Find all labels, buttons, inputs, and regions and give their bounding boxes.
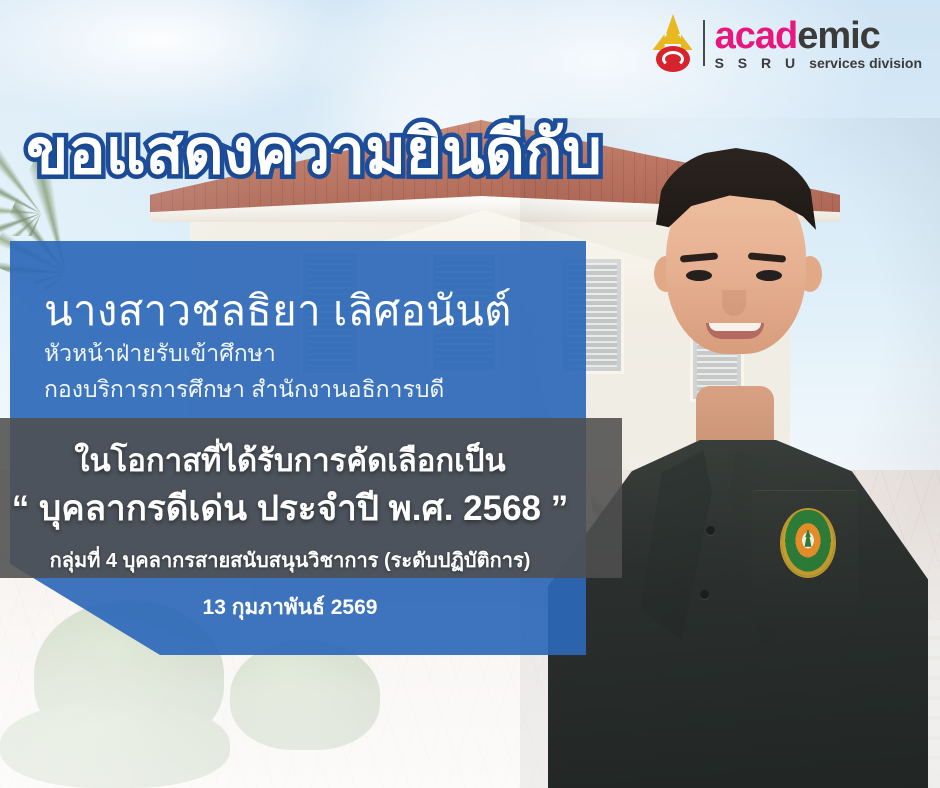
logo-title: academic (715, 17, 922, 55)
award-occasion: ในโอกาสที่ได้รับการคัดเลือกเป็น (0, 435, 580, 485)
logo-divider (703, 20, 705, 66)
person-name: นางสาวชลธิยา เลิศอนันต์ (44, 278, 512, 344)
logo-tagline: services division (809, 56, 922, 70)
award-title: “ บุคลากรดีเด่น ประจำปี พ.ศ. 2568 ” (0, 481, 580, 536)
congratulations-poster: academic S S R U services division ขอแสด… (0, 0, 940, 788)
person-position: หัวหน้าฝ่ายรับเข้าศึกษา (44, 336, 276, 372)
logo-wordmark: academic S S R U services division (715, 17, 922, 70)
academic-services-logo: academic S S R U services division (653, 14, 922, 72)
headline-congratulations: ขอแสดงความยินดีกับ (26, 122, 602, 184)
emblem-red-disc (656, 46, 690, 72)
award-group: กลุ่มที่ 4 บุคลากรสายสนับสนุนวิชาการ (ระ… (0, 544, 580, 576)
person-department: กองบริการการศึกษา สำนักงานอธิการบดี (44, 372, 444, 408)
logo-ssru: S S R U (715, 56, 801, 70)
logo-subtitle: S S R U services division (715, 56, 922, 70)
ssru-emblem-icon (653, 14, 693, 72)
logo-title-acad: acad (715, 15, 798, 57)
logo-title-emic: emic (797, 15, 880, 57)
award-date: 13 กุมภาพันธ์ 2569 (0, 591, 580, 624)
